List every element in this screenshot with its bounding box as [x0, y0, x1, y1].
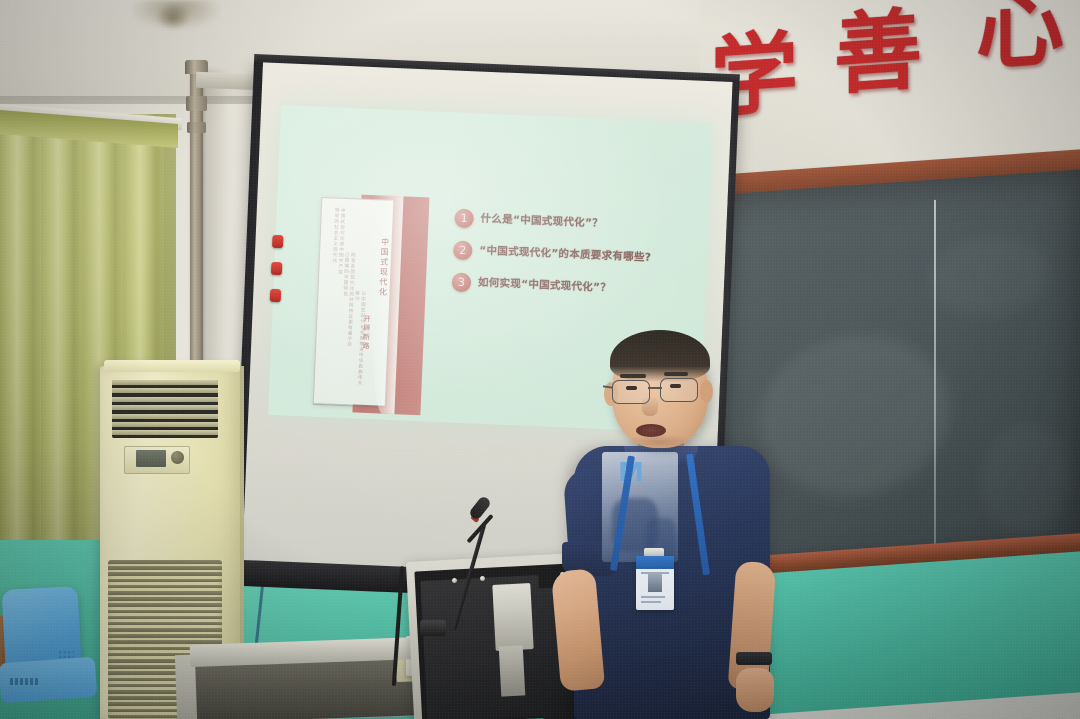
monitor-screw-icon: [452, 578, 457, 583]
slide-book-image: 中国式现代化 开辟新路 中国式现代化是中国共产党领导的社会主义现代化 既有各国现…: [312, 193, 429, 415]
question-number-badge: 1: [454, 209, 474, 229]
air-conditioner-vent: [112, 380, 218, 438]
question-text: “中国式现代化”的本质要求有哪些?: [479, 242, 652, 268]
id-badge: [636, 556, 674, 610]
slide-question-item: 2 “中国式现代化”的本质要求有哪些?: [453, 241, 704, 270]
monitor-hinge[interactable]: [492, 583, 533, 651]
slide-question-item: 3 如何实现“中国式现代化”？: [452, 272, 703, 301]
air-conditioner-knob-icon[interactable]: [171, 451, 184, 464]
slide-question-list: 1 什么是“中国式现代化”？ 2 “中国式现代化”的本质要求有哪些? 3 如何实…: [451, 209, 705, 315]
wall-char-3: 心: [976, 0, 1064, 88]
speaker: M: [560, 330, 780, 719]
pipe-joint-lower: [187, 122, 206, 133]
speaker-chin-shadow: [624, 434, 694, 450]
monitor-screw-icon: [480, 576, 485, 581]
ceiling-water-stain-core: [156, 4, 190, 30]
question-number-badge: 2: [453, 241, 473, 261]
question-number-badge: 3: [452, 272, 472, 292]
eyeglasses: [610, 378, 712, 402]
speaker-nose: [642, 396, 658, 416]
badge-header: [636, 556, 674, 569]
question-text: 什么是“中国式现代化”？: [480, 210, 603, 234]
pipe-joint-upper: [186, 96, 207, 111]
wall-streak: [203, 70, 229, 370]
chair-logo: [10, 678, 40, 685]
air-conditioner-display: [136, 450, 166, 467]
question-text: 如何实现“中国式现代化”？: [478, 274, 612, 299]
wall-char-2: 善: [834, 0, 922, 112]
air-conditioner-top: [104, 360, 240, 372]
blackboard-seam: [934, 200, 936, 582]
monitor-hinge-lower: [499, 645, 526, 696]
microphone-base: [420, 620, 446, 636]
badge-photo: [648, 574, 662, 592]
speaker-wristwatch: [736, 652, 772, 665]
speaker-right-hand: [736, 668, 774, 712]
slide-question-item: 1 什么是“中国式现代化”？: [454, 209, 705, 238]
classroom-photo: 学 善 心 中国式现代化: [0, 0, 1080, 719]
